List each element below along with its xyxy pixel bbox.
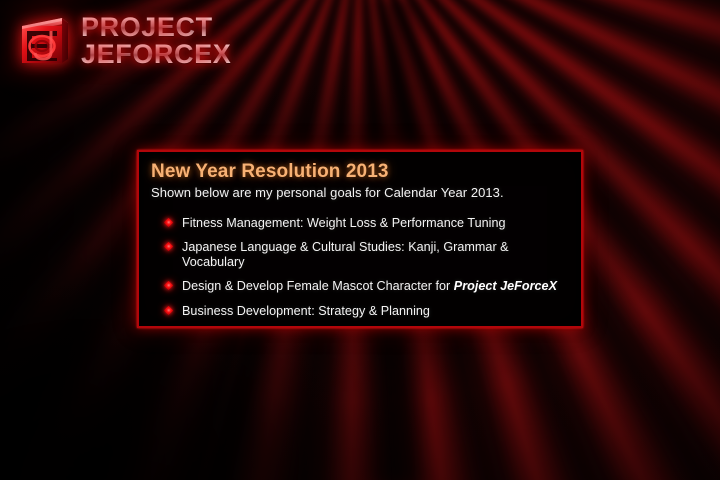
goal-list-item: Japanese Language & Cultural Studies: Ka…: [165, 240, 569, 269]
diamond-bullet-icon: [164, 217, 174, 227]
resolution-panel: New Year Resolution 2013 Shown below are…: [137, 150, 583, 328]
goal-list-item-emphasis: Project JeForceX: [454, 279, 557, 293]
diamond-bullet-icon: [164, 242, 174, 252]
goal-list-item: Fitness Management: Weight Loss & Perfor…: [165, 216, 569, 230]
panel-title: New Year Resolution 2013: [151, 160, 569, 184]
goal-list-item: Business Development: Strategy & Plannin…: [165, 304, 569, 318]
brand-wordmark: PROJECT JEFORCEX: [81, 15, 231, 67]
jeforcex-emblem-icon: [18, 14, 72, 68]
panel-subtitle: Shown below are my personal goals for Ca…: [151, 185, 569, 200]
goal-list: Fitness Management: Weight Loss & Perfor…: [151, 216, 569, 318]
brand-wordmark-line-2: JEFORCEX: [81, 42, 231, 67]
goal-list-item-label: Design & Develop Female Mascot Character…: [182, 279, 454, 293]
diamond-bullet-icon: [164, 281, 174, 291]
goal-list-item-label: Japanese Language & Cultural Studies: Ka…: [182, 240, 509, 268]
goal-list-item-label: Business Development: Strategy & Plannin…: [182, 304, 430, 318]
goal-list-item-label: Fitness Management: Weight Loss & Perfor…: [182, 216, 506, 230]
diamond-bullet-icon: [164, 305, 174, 315]
brand-logo[interactable]: PROJECT JEFORCEX: [18, 14, 231, 68]
goal-list-item: Design & Develop Female Mascot Character…: [165, 279, 569, 293]
brand-wordmark-line-1: PROJECT: [81, 15, 231, 40]
slide-stage: PROJECT JEFORCEX New Year Resolution 201…: [0, 0, 720, 480]
